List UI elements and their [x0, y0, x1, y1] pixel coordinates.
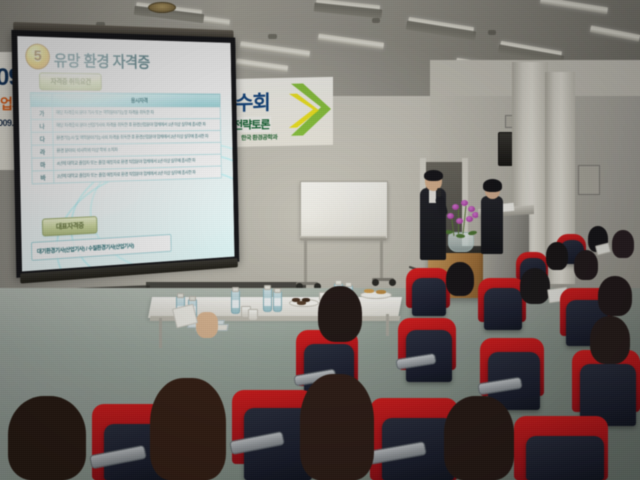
- orchid-bloom: [456, 218, 463, 224]
- wall-speaker-icon: [498, 132, 513, 166]
- audience-head: [598, 276, 632, 316]
- audience-head: [444, 396, 514, 480]
- right-banner-title: 수회: [235, 86, 270, 116]
- seat-panel: [412, 278, 446, 316]
- slide-number-badge: 5: [25, 43, 50, 69]
- whiteboard-caster-wheel: [389, 279, 396, 286]
- refreshment-table-leg: [386, 314, 389, 336]
- audience-head: [300, 374, 374, 480]
- ceiling-speaker-icon: [148, 2, 176, 13]
- orchid-bloom: [447, 213, 454, 219]
- slide-button-top: 자격증 취득요건: [39, 72, 102, 90]
- bottle-cap: [335, 280, 342, 285]
- table-header-requirement: 응시자격: [52, 93, 220, 107]
- projection-screen: 5 유망 환경 자격증 자격증 취득요건 응시자격 가 해당 자격증의 분야 기…: [11, 22, 241, 298]
- flower-leaf: [456, 234, 465, 239]
- snack-food: [364, 289, 374, 293]
- table-row: 가 해당 자격증의 분야 기사 또는 핵학분야기능장 자격을 취득한 자: [31, 107, 221, 120]
- wall-panel: [578, 165, 600, 195]
- audience-head: [546, 242, 568, 270]
- audience-head: [446, 262, 474, 296]
- orchid-bloom: [452, 204, 459, 210]
- orchid-bloom: [461, 200, 468, 206]
- bottle-cap: [264, 285, 271, 290]
- speaker-hair: [424, 170, 443, 181]
- slide-title: 유망 환경 자격증: [53, 47, 149, 72]
- whiteboard-marker-tray: [300, 236, 386, 240]
- slide-table: 응시자격 가 해당 자격증의 분야 기사 또는 핵학분야기능장 자격을 취득한 …: [30, 92, 222, 184]
- whiteboard-leg: [304, 238, 307, 284]
- audience-head: [612, 230, 634, 258]
- audience-head: [590, 316, 630, 364]
- whiteboard: [300, 181, 388, 239]
- chevron-logo-icon: [287, 79, 331, 142]
- audience-head: [8, 396, 86, 480]
- ceiling-vent: [268, 34, 277, 39]
- bottle-label: [274, 298, 281, 306]
- person-at-lectern-hair: [483, 179, 502, 192]
- snack-food: [297, 301, 306, 305]
- microphone-icon: [437, 188, 441, 197]
- table-cell-text: 해당 자격증의 분야 기사 또는 핵학분야기능장 자격을 취득한 자: [52, 107, 220, 120]
- ceiling-vent: [372, 18, 380, 23]
- bottle-cap: [232, 287, 239, 292]
- photo-scene: 09 업시 009. 11. 수회 전략토론 한국 환경공학과 5 유망 환경 …: [0, 0, 640, 480]
- audience-head: [318, 286, 362, 342]
- table-header-key: [30, 93, 52, 107]
- audience-head: [150, 378, 226, 480]
- water-bottle: [273, 291, 282, 312]
- whiteboard-caster-wheel: [372, 279, 379, 286]
- table-cell-key: 다: [31, 132, 53, 145]
- table-cell-key: 나: [31, 119, 53, 132]
- right-banner-small: 한국 환경공학과: [241, 132, 277, 142]
- bottle-label: [264, 298, 271, 306]
- snack-food: [376, 290, 386, 294]
- paper-cup: [248, 309, 258, 321]
- screen-surface-frame: 5 유망 환경 자격증 자격증 취득요건 응시자격 가 해당 자격증의 분야 기…: [11, 30, 239, 278]
- bottle-cap: [189, 296, 196, 301]
- audience-hand: [196, 312, 218, 338]
- water-bottle: [263, 288, 272, 312]
- seat-panel: [526, 436, 604, 480]
- table-cell-key: 마: [32, 158, 54, 171]
- whiteboard-leg: [380, 238, 383, 280]
- presentation-slide: 5 유망 환경 자격증 자격증 취득요건 응시자격 가 해당 자격증의 분야 기…: [17, 36, 234, 271]
- ceiling-vent: [488, 30, 496, 35]
- right-banner: 수회 전략토론 한국 환경공학과: [228, 77, 333, 147]
- table-cell-key: 가: [31, 107, 53, 120]
- water-bottle: [231, 290, 240, 314]
- audience-head: [520, 268, 550, 304]
- table-cell-key: 라: [31, 145, 53, 158]
- seat-panel: [484, 288, 522, 330]
- table-cell-key: 바: [32, 170, 54, 183]
- refreshment-table-leg: [159, 318, 162, 348]
- bottle-cap: [177, 293, 184, 298]
- bottle-label: [232, 300, 239, 308]
- audience-head: [574, 250, 598, 280]
- person-at-lectern-body: [481, 196, 503, 254]
- slide-button-bottom: 대표자격증: [42, 216, 98, 236]
- bottle-cap: [274, 288, 281, 293]
